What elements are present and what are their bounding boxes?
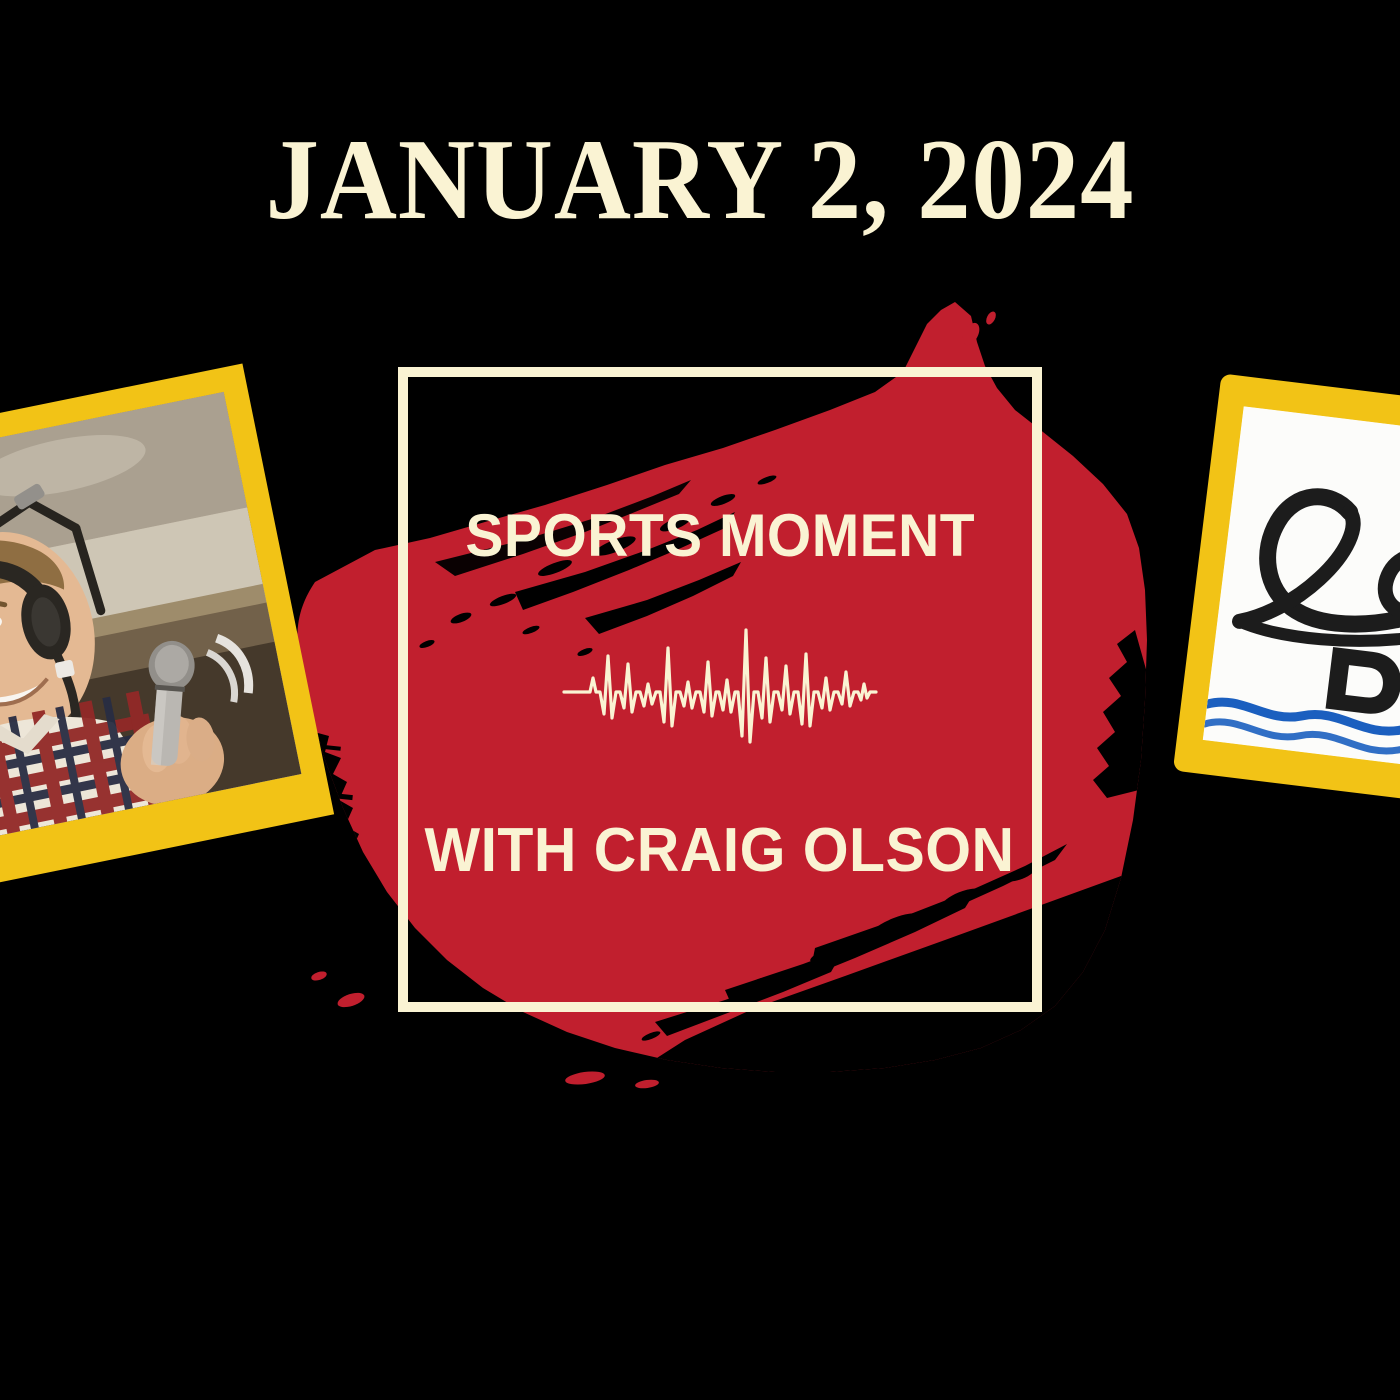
- podcast-cover-canvas: JANUARY 2, 2024: [0, 0, 1400, 1400]
- sponsor-logo-card: [1173, 373, 1400, 810]
- show-title-line-2: WITH CRAIG OLSON: [425, 820, 1015, 892]
- page-title: JANUARY 2, 2024: [56, 122, 1344, 238]
- show-title-line-1: SPORTS MOMENT: [465, 488, 975, 566]
- center-title-block: SPORTS MOMENT WITH CRAIG OLSON: [360, 367, 1080, 1012]
- sponsor-logo-image: [1203, 406, 1400, 773]
- audio-waveform-icon: [560, 622, 880, 762]
- host-photo-polaroid: [0, 364, 334, 889]
- host-photo-image: [0, 392, 301, 839]
